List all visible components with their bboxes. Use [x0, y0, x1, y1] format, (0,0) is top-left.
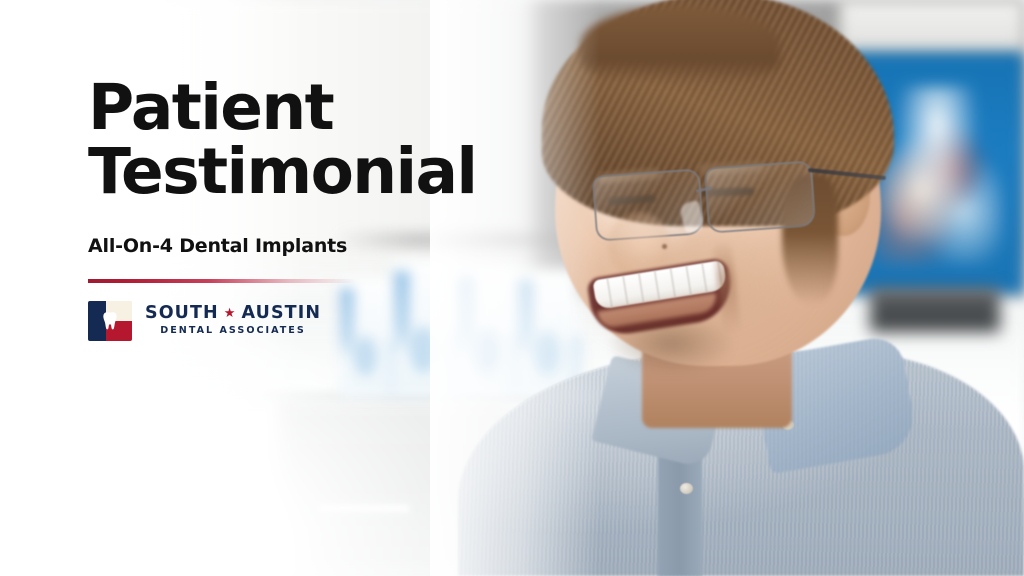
- brand-tagline: DENTAL ASSOCIATES: [145, 326, 321, 336]
- subject-person: [430, 0, 1024, 576]
- page-title: Patient Testimonial: [88, 76, 508, 205]
- tooth-icon: [103, 311, 118, 330]
- brand-logo: SOUTH ★ AUSTIN DENTAL ASSOCIATES: [88, 301, 508, 341]
- facial-mole: [662, 244, 667, 249]
- title-line-1: Patient: [88, 76, 508, 140]
- hair-fringe: [580, 6, 780, 84]
- chin-stubble: [606, 322, 736, 376]
- bottom-left-white-overlay: [0, 316, 430, 576]
- brand-wordmark: SOUTH ★ AUSTIN DENTAL ASSOCIATES: [145, 305, 321, 336]
- shirt-button: [680, 483, 693, 494]
- brand-name-secondary: AUSTIN: [242, 305, 322, 323]
- star-icon: ★: [224, 307, 237, 320]
- divider: [88, 279, 356, 283]
- brand-name-primary: SOUTH: [145, 305, 219, 323]
- texas-flag-tooth-icon: [88, 301, 132, 341]
- title-line-2: Testimonial: [88, 140, 508, 204]
- page-subtitle: All-On-4 Dental Implants: [88, 235, 508, 257]
- slide-frame: Patient Testimonial All-On-4 Dental Impl…: [0, 0, 1024, 576]
- brand-name-row: SOUTH ★ AUSTIN: [145, 305, 321, 323]
- text-overlay: Patient Testimonial All-On-4 Dental Impl…: [88, 76, 508, 341]
- lens-right: [704, 160, 816, 233]
